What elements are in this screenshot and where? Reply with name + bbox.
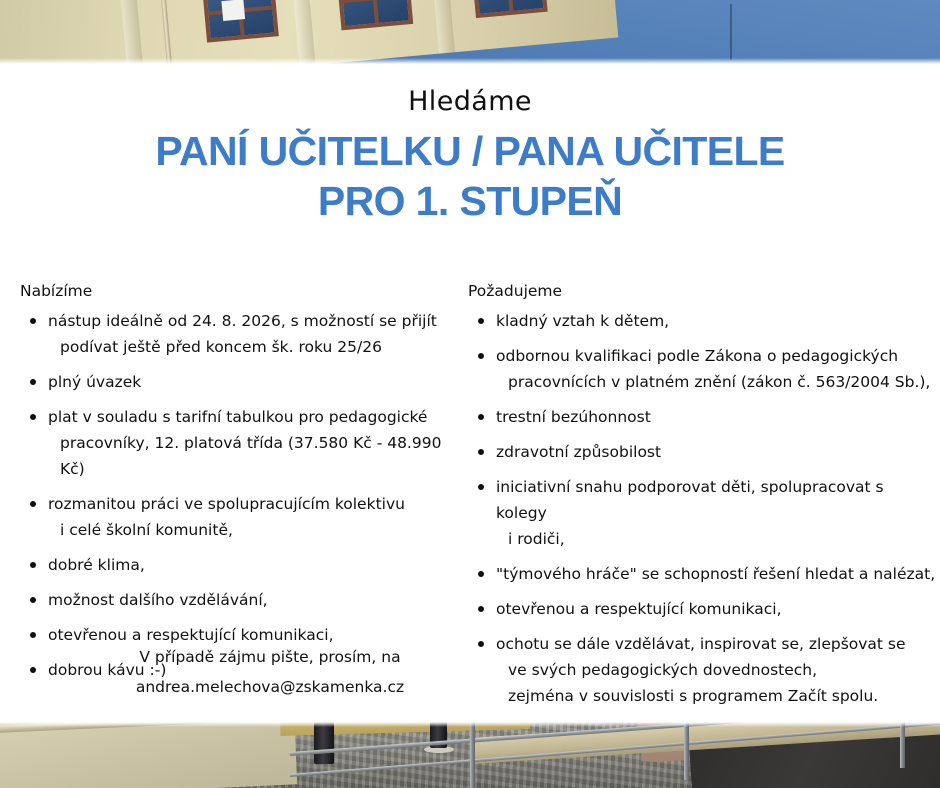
list-item: zdravotní způsobilost xyxy=(468,439,938,465)
page-title-line-2: PRO 1. STUPEŇ xyxy=(0,176,940,226)
list-item: plat v souladu s tarifní tabulkou pro pe… xyxy=(20,404,465,482)
page-title-line-1: PANÍ UČITELKU / PANA UČITELE xyxy=(155,128,784,174)
job-posting-poster: Hledáme PANÍ UČITELKU / PANA UČITELE PRO… xyxy=(0,0,940,788)
offer-heading: Nabízíme xyxy=(20,282,465,300)
railing-post xyxy=(900,722,905,768)
list-item: kladný vztah k dětem, xyxy=(468,308,938,334)
list-item-line: pracovnících v platném znění (zákon č. 5… xyxy=(496,369,938,395)
list-item-line: dobré klima, xyxy=(48,556,145,574)
window-sign xyxy=(221,0,245,21)
wall-pilaster xyxy=(289,0,316,64)
list-item-line: "týmového hráče" se schopností řešení hl… xyxy=(496,565,935,583)
list-item-line: otevřenou a respektující komunikaci, xyxy=(496,600,782,618)
building-window xyxy=(202,0,279,43)
building-window xyxy=(471,0,548,18)
offer-list: nástup ideálně od 24. 8. 2026, s možnost… xyxy=(20,308,465,683)
list-item: ochotu se dále vzdělávat, inspirovat se,… xyxy=(468,631,938,709)
contact-block: V případě zájmu pište, prosím, na andrea… xyxy=(60,642,480,702)
list-item: dobré klima, xyxy=(20,552,465,578)
requirements-list: kladný vztah k dětem, odbornou kvalifika… xyxy=(468,308,938,709)
list-item: otevřenou a respektující komunikaci, xyxy=(468,596,938,622)
list-item-line: pracovníky, 12. platová třída (37.580 Kč… xyxy=(48,430,465,482)
list-item: trestní bezúhonnost xyxy=(468,404,938,430)
eyebrow-heading: Hledáme xyxy=(0,86,940,117)
list-item: iniciativní snahu podporovat děti, spolu… xyxy=(468,474,938,552)
list-item-line: plat v souladu s tarifní tabulkou pro pe… xyxy=(48,408,427,426)
list-item: nástup ideálně od 24. 8. 2026, s možnost… xyxy=(20,308,465,360)
requirements-column: Požadujeme kladný vztah k dětem, odborno… xyxy=(468,282,938,718)
wall-pilaster xyxy=(117,0,144,64)
list-item-line: rozmanitou práci ve spolupracujícím kole… xyxy=(48,495,405,513)
school-pavement-railing-photo xyxy=(0,722,940,788)
list-item-line: ochotu se dále vzdělávat, inspirovat se,… xyxy=(496,635,906,653)
contact-prompt: V případě zájmu pište, prosím, na xyxy=(139,648,400,666)
window-mullion xyxy=(371,0,380,23)
list-item: "týmového hráče" se schopností řešení hl… xyxy=(468,561,938,587)
antenna-pole xyxy=(730,4,732,60)
requirements-heading: Požadujeme xyxy=(468,282,938,300)
list-item-line: iniciativní snahu podporovat děti, spolu… xyxy=(496,478,884,522)
list-item: odbornou kvalifikaci podle Zákona o peda… xyxy=(468,343,938,395)
list-item-line: podívat ještě před koncem šk. roku 25/26 xyxy=(48,334,465,360)
list-item-line: zdravotní způsobilost xyxy=(496,443,661,461)
bollard xyxy=(314,722,334,764)
photo-fade xyxy=(0,722,940,727)
railing-post xyxy=(470,722,475,788)
window-mullion xyxy=(505,0,514,11)
contact-email[interactable]: andrea.melechova@zskamenka.cz xyxy=(60,672,480,702)
list-item: rozmanitou práci ve spolupracujícím kole… xyxy=(20,491,465,543)
list-item-line: trestní bezúhonnost xyxy=(496,408,651,426)
list-item-line: plný úvazek xyxy=(48,373,141,391)
school-building-facade-photo xyxy=(0,0,940,64)
list-item-line: zejména v souvislosti s programem Začít … xyxy=(496,683,938,709)
list-item: možnost dalšího vzdělávání, xyxy=(20,587,465,613)
list-item-line: i rodiči, xyxy=(496,526,938,552)
content-panel: Hledáme PANÍ UČITELKU / PANA UČITELE PRO… xyxy=(0,64,940,722)
offer-column: Nabízíme nástup ideálně od 24. 8. 2026, … xyxy=(20,282,465,692)
drainpipe xyxy=(157,0,173,64)
list-item-line: ve svých pedagogických dovednostech, xyxy=(496,657,938,683)
list-item-line: nástup ideálně od 24. 8. 2026, s možnost… xyxy=(48,312,437,330)
wall-pilaster xyxy=(428,0,455,54)
list-item-line: odbornou kvalifikaci podle Zákona o peda… xyxy=(496,347,898,365)
wall-base xyxy=(0,722,297,788)
list-item-line: možnost dalšího vzdělávání, xyxy=(48,591,268,609)
list-item-line: i celé školní komunitě, xyxy=(48,517,465,543)
building-window xyxy=(336,0,413,30)
railing-post xyxy=(684,722,689,780)
list-item-line: kladný vztah k dětem, xyxy=(496,312,669,330)
page-title: PANÍ UČITELKU / PANA UČITELE PRO 1. STUP… xyxy=(0,126,940,226)
list-item: plný úvazek xyxy=(20,369,465,395)
